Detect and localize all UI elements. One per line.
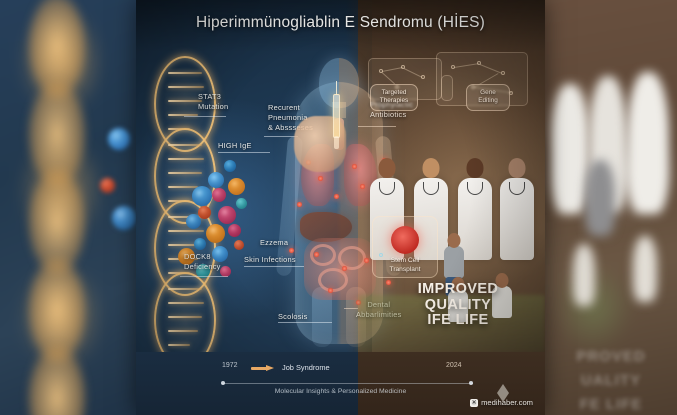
blurred-immune-cell [100, 178, 115, 193]
syringe-barrel [333, 94, 340, 138]
right-strip-headline-line3: FE LIFE [545, 396, 677, 413]
immune-cell [186, 214, 201, 229]
marker-node [379, 253, 383, 257]
child-figure [444, 246, 464, 278]
leader-line-stat3 [184, 116, 226, 117]
molecule-link [382, 72, 395, 84]
right-strip-headline-line1: PROVED [545, 348, 677, 365]
dna-rung [168, 186, 198, 188]
molecule-link [480, 64, 502, 74]
syringe-needle [336, 81, 338, 95]
immune-cell [234, 240, 244, 250]
immune-cell [212, 188, 226, 202]
watermark-logo-icon: ✕ [470, 399, 478, 407]
timeline-event-label: Job Syndrome [282, 363, 330, 372]
stem-cell-label: Stem Cell Transplant [373, 257, 437, 274]
dna-rung [168, 158, 204, 160]
lesion-marker [314, 252, 319, 257]
child-shirt [444, 246, 464, 278]
lesion-marker [328, 288, 333, 293]
leader-line-skin [244, 266, 304, 267]
main-infographic: Hiperimmünogliablin E Sendromu (HİES) [136, 0, 545, 415]
dna-rung [168, 330, 198, 332]
doctor-head [467, 158, 484, 178]
lesion-marker [342, 266, 347, 271]
timeline-start-dot [221, 381, 225, 385]
intestine-coil [318, 268, 348, 292]
syringe-icon [332, 86, 341, 150]
label-dock8-deficiency: DOCK8 Deficiency [184, 252, 221, 272]
blurred-child [585, 160, 615, 236]
timeline-arrow-icon [251, 365, 275, 372]
immune-cell [218, 206, 236, 224]
lesion-marker [297, 202, 302, 207]
footer-timeline: 1972 Job Syndrome 2024 Molecular Insight… [136, 352, 545, 415]
timeline-row: 1972 Job Syndrome 2024 [136, 362, 545, 376]
immune-cell [224, 160, 236, 172]
right-strip-headline-line2: UALITY [545, 372, 677, 389]
timeline-subtitle: Molecular Insights & Personalized Medici… [136, 388, 545, 395]
label-skin-infections: Skin Infections [244, 255, 296, 265]
timeline-end-year: 2024 [446, 362, 462, 369]
dna-rung [168, 72, 202, 74]
lesion-marker [352, 164, 357, 169]
badge-gene-editing[interactable]: Gene Editing [466, 84, 510, 111]
dna-rung [168, 100, 202, 102]
blurred-immune-cell [108, 128, 130, 150]
stem-cell-transplant-card[interactable]: Stem Cell Transplant [372, 216, 438, 278]
label-eczema: Ezzema [260, 238, 288, 248]
right-blurred-strip: PROVED UALITY FE LIFE [545, 0, 677, 415]
blurred-child [573, 244, 595, 306]
blurred-doctor [627, 72, 669, 214]
leader-line-dental [344, 308, 358, 309]
doctor-head [423, 158, 440, 178]
label-high-ige: HIGH IgE [218, 141, 252, 151]
immune-cell [236, 198, 247, 209]
leader-line-dock8 [180, 276, 228, 277]
dna-rung [168, 172, 202, 174]
label-scoliosis: Scolosis [278, 312, 308, 322]
dna-rung [168, 302, 204, 304]
timeline-end-dot [469, 381, 473, 385]
syringe-plunger [334, 136, 339, 149]
left-blurred-strip [0, 0, 136, 415]
immune-cell [208, 172, 224, 188]
doctor-head [509, 158, 526, 178]
child-head [448, 233, 461, 248]
stem-cell-icon [391, 226, 419, 254]
arrow-head [266, 365, 274, 371]
dna-rung [168, 230, 204, 232]
timeline-start-year: 1972 [222, 362, 238, 369]
outcome-headline: IMPROVED QUALITY IFE LIFE [380, 282, 536, 329]
molecule-link [382, 67, 403, 72]
molecule-node [501, 71, 505, 75]
blurred-immune-cell [112, 206, 136, 230]
immune-cell [228, 178, 245, 195]
watermark[interactable]: ✕ medihaber.com [470, 398, 533, 407]
lesion-marker [289, 248, 294, 253]
immune-cell [192, 186, 212, 206]
blurred-child [633, 236, 657, 302]
dna-rung [168, 86, 204, 88]
dna-rung [168, 344, 190, 346]
lesion-marker [318, 176, 323, 181]
lesion-marker [334, 194, 339, 199]
label-stat3-mutation: STAT3 Mutation [198, 92, 228, 112]
immune-cell [194, 238, 206, 250]
badge-targeted-therapies[interactable]: Targeted Therapies [370, 84, 418, 111]
dna-rung [168, 144, 202, 146]
infographic-canvas: PROVED UALITY FE LIFE Hiperimmünogliabli… [0, 0, 677, 415]
immune-cell [228, 224, 241, 237]
leader-line-high-ige [218, 152, 270, 153]
leader-line-pneumonia [264, 136, 298, 137]
dna-rung [168, 316, 202, 318]
leader-line-scoliosis [278, 322, 332, 323]
doctor-head [379, 158, 396, 178]
page-title: Hiperimmünogliablin E Sendromu (HİES) [136, 14, 545, 32]
watermark-text: medihaber.com [481, 398, 533, 407]
molecule-link [404, 68, 422, 78]
blurred-doctor [551, 84, 589, 214]
timeline-axis [222, 383, 473, 384]
dna-rung [168, 288, 202, 290]
doctor-figure [500, 178, 534, 260]
molecule-link [454, 63, 479, 68]
arrow-shaft [251, 367, 267, 370]
sparkle-icon [497, 384, 509, 393]
immune-cell [206, 224, 225, 243]
data-bar-panel [441, 75, 453, 101]
